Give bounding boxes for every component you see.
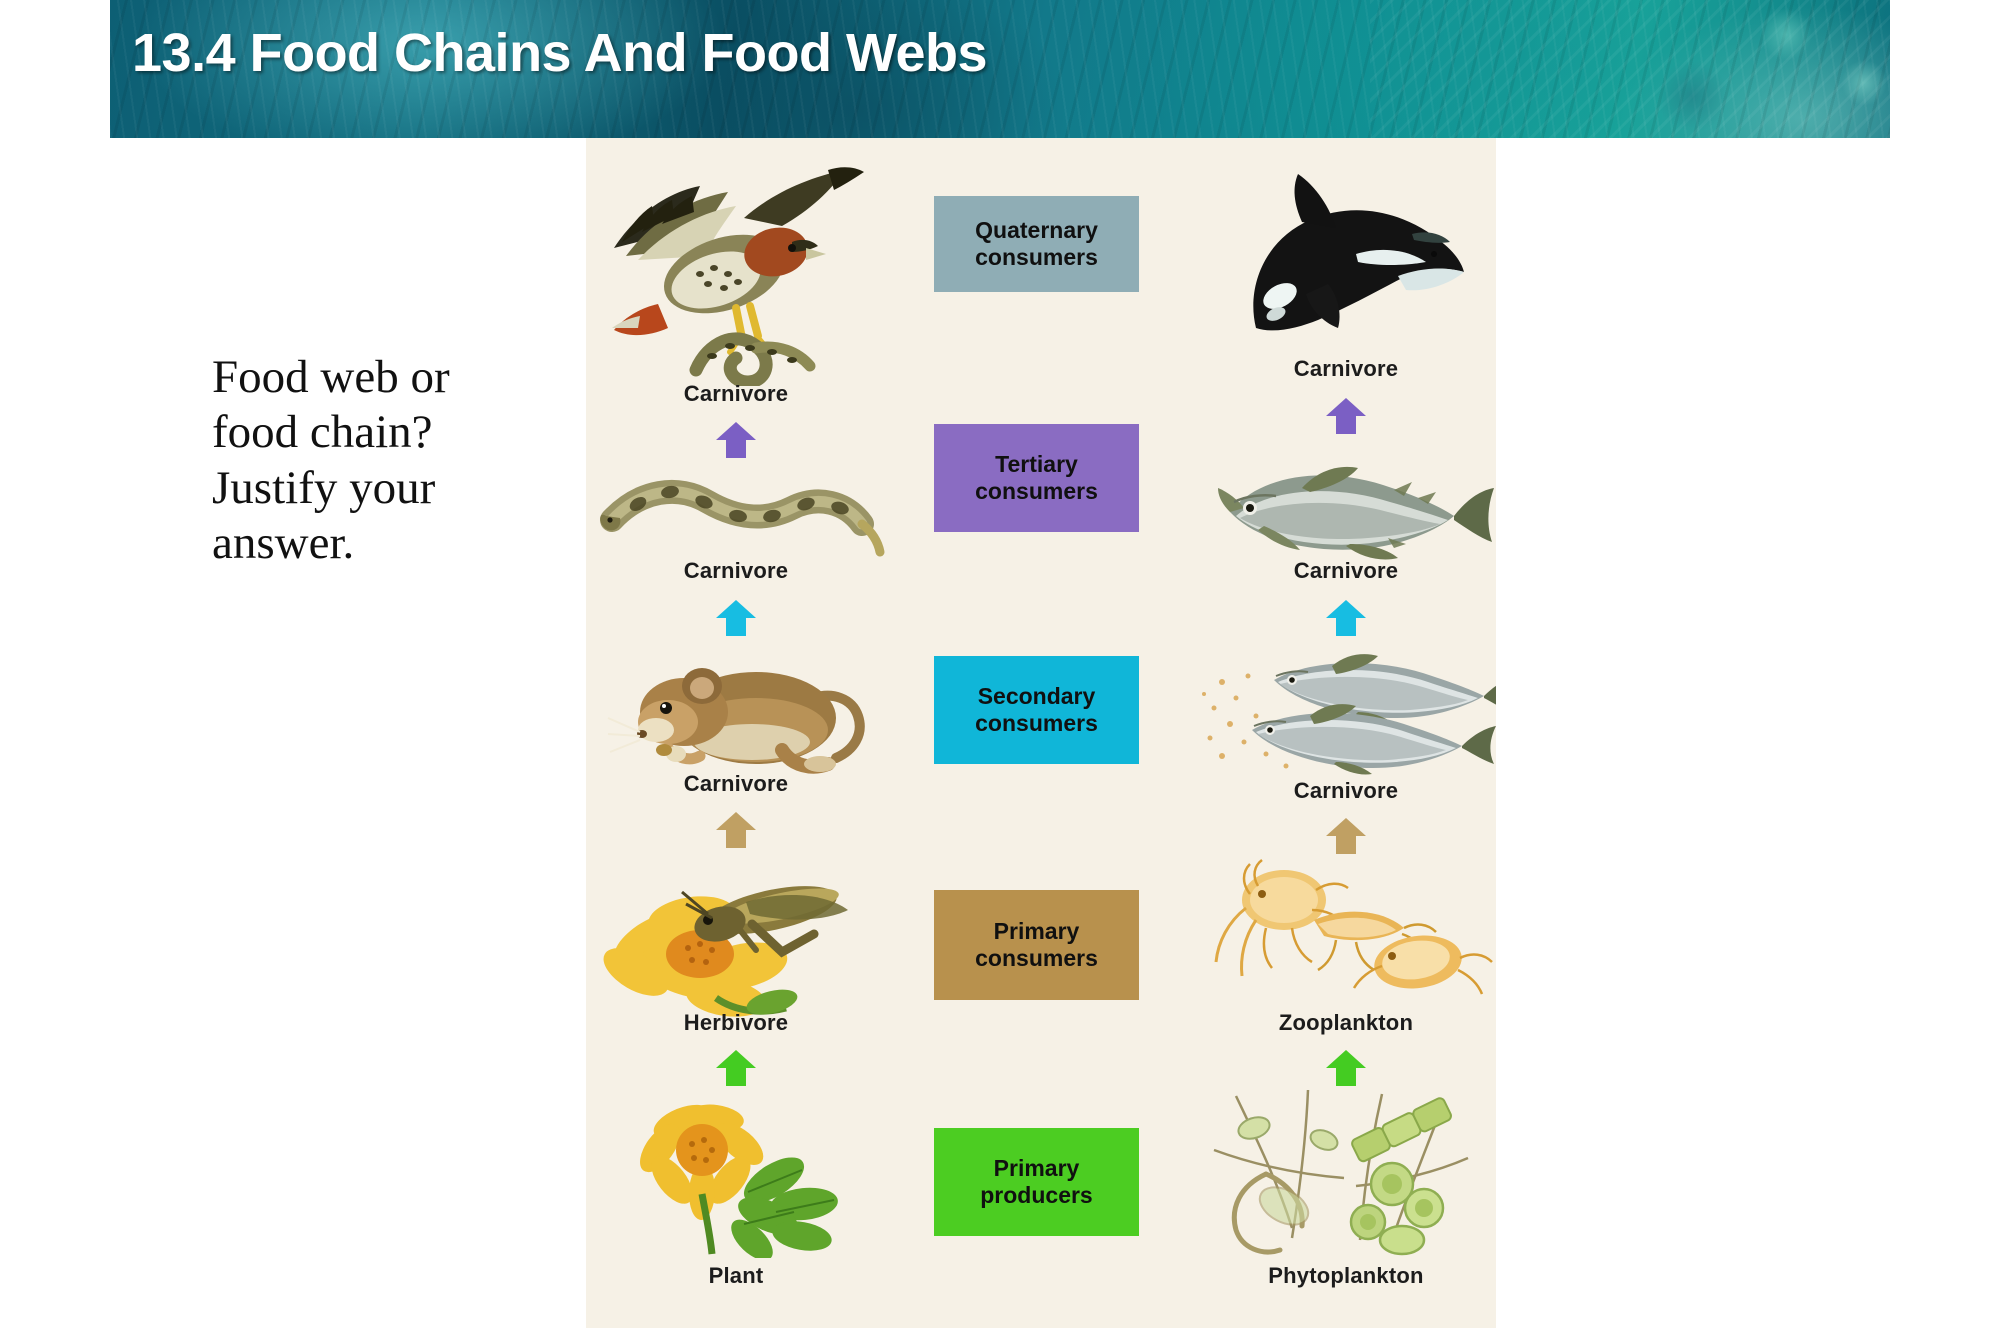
arrow-aquatic-secondary-to-tertiary <box>1324 598 1368 638</box>
flowering-plant-illustration <box>606 1088 876 1258</box>
trophic-box-tertiary: Tertiary consumers <box>934 424 1139 532</box>
terrestrial-label-primary-consumer: Herbivore <box>586 1010 886 1036</box>
box-line-1: Primary <box>994 1155 1080 1181</box>
box-line-2: consumers <box>975 478 1098 504</box>
page-title: 13.4 Food Chains And Food Webs <box>132 22 987 84</box>
rattlesnake-illustration <box>596 450 886 570</box>
question-prompt: Food web or food chain? Justify your ans… <box>212 350 542 572</box>
aquatic-label-quaternary: Carnivore <box>1196 356 1496 382</box>
herring-fish-illustration <box>1196 646 1496 786</box>
title-banner: 13.4 Food Chains And Food Webs <box>110 0 1890 138</box>
terrestrial-label-producer: Plant <box>586 1263 886 1289</box>
arrow-aquatic-producer-to-primary <box>1324 1048 1368 1088</box>
aquatic-label-producer: Phytoplankton <box>1196 1263 1496 1289</box>
terrestrial-food-chain-column: Carnivore <box>586 138 886 1328</box>
aquatic-label-primary-consumer: Zooplankton <box>1196 1010 1496 1036</box>
trophic-level-diagram: Carnivore <box>586 138 1496 1328</box>
trophic-box-primary-consumers: Primary consumers <box>934 890 1139 1000</box>
trophic-box-primary-producers: Primary producers <box>934 1128 1139 1236</box>
terrestrial-label-tertiary: Carnivore <box>586 558 886 584</box>
terrestrial-label-secondary: Carnivore <box>586 771 886 797</box>
aquatic-food-chain-column: Carnivore Carnivore <box>1196 138 1496 1328</box>
trophic-box-quaternary: Quaternary consumers <box>934 196 1139 292</box>
aquatic-label-secondary: Carnivore <box>1196 778 1496 804</box>
terrestrial-label-quaternary: Carnivore <box>586 381 886 407</box>
box-line-1: Primary <box>994 918 1080 944</box>
phytoplankton-diatoms-illustration <box>1196 1088 1496 1263</box>
arrow-aquatic-tertiary-to-quaternary <box>1324 396 1368 436</box>
arrow-producer-to-primary <box>714 1048 758 1088</box>
trophic-box-secondary: Secondary consumers <box>934 656 1139 764</box>
trophic-level-legend-column: Quaternary consumers Tertiary consumers … <box>886 138 1196 1328</box>
mouse-illustration <box>606 638 876 778</box>
box-line-2: consumers <box>975 710 1098 736</box>
box-line-2: consumers <box>975 945 1098 971</box>
arrow-primary-to-secondary <box>714 810 758 850</box>
zooplankton-copepods-illustration <box>1206 854 1496 1014</box>
orca-whale-illustration <box>1206 168 1486 348</box>
banner-coral-texture <box>1370 0 1890 138</box>
grasshopper-on-flower-illustration <box>596 848 886 1018</box>
box-line-1: Secondary <box>978 683 1096 709</box>
box-line-1: Quaternary <box>975 217 1098 243</box>
arrow-aquatic-primary-to-secondary <box>1324 816 1368 856</box>
hawk-with-snake-illustration <box>596 156 886 386</box>
tuna-fish-illustration <box>1206 446 1496 576</box>
box-line-2: consumers <box>975 244 1098 270</box>
aquatic-label-tertiary: Carnivore <box>1196 558 1496 584</box>
box-line-1: Tertiary <box>995 451 1078 477</box>
box-line-2: producers <box>980 1182 1092 1208</box>
arrow-secondary-to-tertiary <box>714 598 758 638</box>
